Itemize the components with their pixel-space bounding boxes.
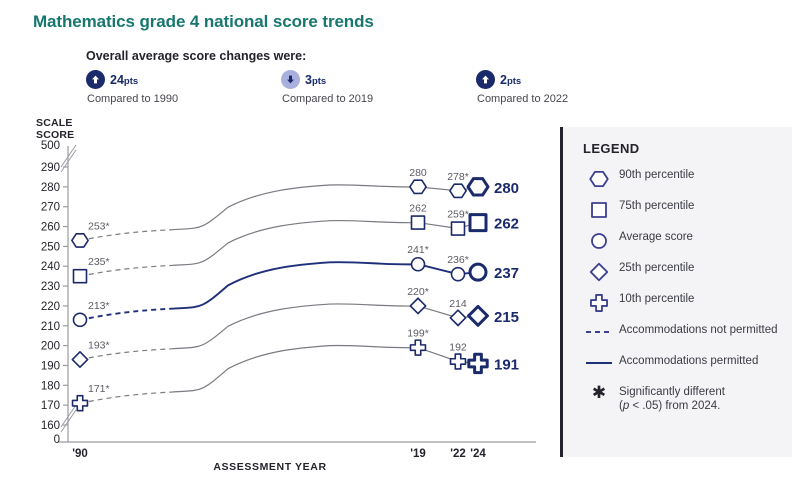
badge-caption: Compared to 1990 (87, 93, 178, 105)
y-tick-label: 250 (41, 241, 60, 253)
hexagon-icon (579, 167, 619, 189)
badge-value: 3pts (305, 73, 326, 87)
cross-icon (579, 291, 619, 313)
final-value-label: 215 (494, 309, 519, 326)
x-axis-title: ASSESSMENT YEAR (0, 461, 540, 473)
badge-value: 2pts (500, 73, 521, 87)
data-point-marker (74, 270, 87, 283)
legend-item: Accommodations not permitted (579, 322, 784, 350)
badge-compared-2022: 2pts Compared to 2022 (476, 70, 568, 105)
badge-compared-2019: 3pts Compared to 2019 (281, 70, 373, 105)
data-point-marker (73, 396, 88, 411)
badge-caption: Compared to 2022 (477, 93, 568, 105)
x-tick-label: '22 (450, 448, 466, 460)
series-line-solid (172, 262, 478, 309)
diamond-icon (579, 260, 619, 282)
legend-panel: LEGEND 90th percentile75th percentileAve… (560, 127, 792, 457)
legend-item-label: Significantly different(p < .05) from 20… (619, 384, 725, 413)
legend-item: Average score (579, 229, 784, 257)
legend-item-label: 90th percentile (619, 167, 694, 182)
legend-item-label: Accommodations permitted (619, 353, 758, 368)
data-point-marker (452, 222, 465, 235)
data-point-label: 220* (407, 286, 429, 298)
y-tick-label: 230 (41, 281, 60, 293)
data-point-marker (411, 340, 426, 355)
legend-item-label: Accommodations not permitted (619, 322, 778, 337)
data-point-label: 253* (88, 220, 110, 232)
legend-heading: LEGEND (583, 141, 640, 156)
final-value-label: 280 (494, 180, 519, 197)
dashed-line-icon (579, 322, 619, 338)
series-line-solid (172, 345, 478, 392)
y-tick-label: 210 (41, 321, 60, 333)
x-tick-label: '19 (410, 448, 426, 460)
data-point-label: 193* (88, 340, 110, 352)
x-tick-label: '90 (72, 448, 88, 460)
solid-line-icon (579, 353, 619, 369)
data-point-label: 199* (407, 328, 429, 340)
y-tick-label: 290 (41, 162, 60, 174)
legend-item: 75th percentile (579, 198, 784, 226)
y-tick-label: 160 (41, 420, 60, 432)
data-point-marker (468, 179, 488, 195)
circle-icon (579, 229, 619, 251)
y-tick-label: 220 (41, 301, 60, 313)
legend-item: ✱Significantly different(p < .05) from 2… (579, 384, 784, 413)
data-point-label: 236* (447, 254, 469, 266)
data-point-marker (452, 268, 465, 281)
data-point-label: 171* (88, 383, 110, 395)
data-point-label: 235* (88, 256, 110, 268)
legend-item-label: 25th percentile (619, 260, 694, 275)
y-tick-label: 500 (41, 140, 60, 152)
data-point-marker (451, 354, 466, 369)
arrow-down-icon (281, 70, 300, 89)
data-point-marker (412, 216, 425, 229)
legend-item: 10th percentile (579, 291, 784, 319)
data-point-label: 280 (409, 167, 427, 179)
y-tick-label: 280 (41, 182, 60, 194)
data-point-label: 262 (409, 203, 427, 215)
chart-subtitle: Overall average score changes were: (86, 49, 306, 63)
data-point-label: 192 (449, 341, 467, 353)
data-point-marker (469, 306, 488, 325)
y-tick-label: 240 (41, 261, 60, 273)
legend-item-label: Average score (619, 229, 693, 244)
final-value-label: 191 (494, 356, 519, 373)
data-point-label: 214 (449, 298, 467, 310)
series-line-solid (172, 304, 478, 349)
data-point-label: 241* (407, 244, 429, 256)
y-tick-label: 260 (41, 222, 60, 234)
page-title: Mathematics grade 4 national score trend… (33, 12, 374, 32)
final-value-label: 237 (494, 265, 519, 282)
legend-item: 90th percentile (579, 167, 784, 195)
trend-chart: 5002902802702602502402302202102001901801… (0, 112, 560, 462)
asterisk-icon: ✱ (579, 384, 619, 400)
y-tick-label: 200 (41, 341, 60, 353)
data-point-label: 213* (88, 300, 110, 312)
badge-caption: Compared to 2019 (282, 93, 373, 105)
data-point-marker (470, 264, 486, 280)
data-point-marker (470, 215, 486, 231)
data-point-marker (74, 313, 87, 326)
arrow-up-icon (86, 70, 105, 89)
y-tick-label: 0 (54, 434, 60, 446)
data-point-marker (410, 298, 425, 313)
series-line-solid (172, 221, 478, 266)
arrow-up-icon (476, 70, 495, 89)
data-point-marker (72, 234, 88, 247)
data-point-marker (410, 180, 426, 193)
score-change-badges: 24pts Compared to 1990 3pts Compared to … (86, 70, 556, 112)
square-icon (579, 198, 619, 220)
data-point-marker (412, 258, 425, 271)
chart-page: Mathematics grade 4 national score trend… (0, 0, 803, 502)
legend-item: Accommodations permitted (579, 353, 784, 381)
final-value-label: 262 (494, 216, 519, 233)
legend-item-label: 75th percentile (619, 198, 694, 213)
y-tick-label: 190 (41, 360, 60, 372)
series-line-solid (172, 185, 478, 230)
data-point-marker (450, 310, 465, 325)
y-tick-label: 170 (41, 400, 60, 412)
y-tick-label: 270 (41, 202, 60, 214)
data-point-marker (469, 354, 487, 372)
y-tick-label: 180 (41, 380, 60, 392)
data-point-marker (450, 184, 466, 197)
data-point-label: 259* (447, 209, 469, 221)
data-point-label: 278* (447, 171, 469, 183)
badge-value: 24pts (110, 73, 138, 87)
badge-compared-1990: 24pts Compared to 1990 (86, 70, 178, 105)
data-point-marker (72, 352, 87, 367)
legend-item: 25th percentile (579, 260, 784, 288)
legend-item-label: 10th percentile (619, 291, 694, 306)
x-tick-label: '24 (470, 448, 486, 460)
